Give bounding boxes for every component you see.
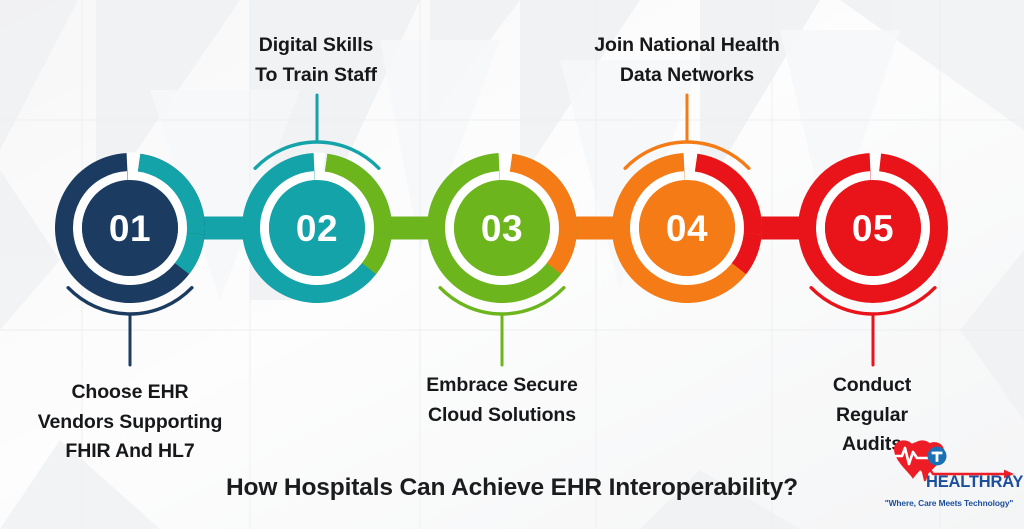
step-number: 04 [666, 208, 708, 249]
brand-name: HEALTHRAY [926, 473, 1023, 492]
step-number: 01 [109, 208, 151, 249]
infographic-stage: 0102030405 Choose EHR Vendors Supporting… [0, 0, 1024, 529]
step-label-02: Digital Skills To Train Staff [255, 31, 377, 90]
step-number: 05 [852, 208, 894, 249]
step-node-04[interactable]: 04 [612, 95, 762, 303]
step-label-01: Choose EHR Vendors Supporting FHIR And H… [38, 378, 223, 467]
page-title: How Hospitals Can Achieve EHR Interopera… [0, 474, 1024, 502]
step-nodes-layer: 0102030405 [55, 95, 948, 365]
brand-logo[interactable]: HEALTHRAY "Where, Care Meets Technology" [878, 437, 1018, 519]
step-node-03[interactable]: 03 [427, 153, 577, 366]
step-label-04: Join National Health Data Networks [594, 31, 779, 90]
step-node-02[interactable]: 02 [242, 95, 392, 303]
step-node-05[interactable]: 05 [798, 153, 948, 366]
step-number: 03 [481, 208, 523, 249]
step-node-01[interactable]: 01 [55, 153, 205, 365]
brand-tagline: "Where, Care Meets Technology" [880, 498, 1018, 508]
step-number: 02 [296, 208, 338, 249]
step-label-03: Embrace Secure Cloud Solutions [426, 371, 577, 430]
